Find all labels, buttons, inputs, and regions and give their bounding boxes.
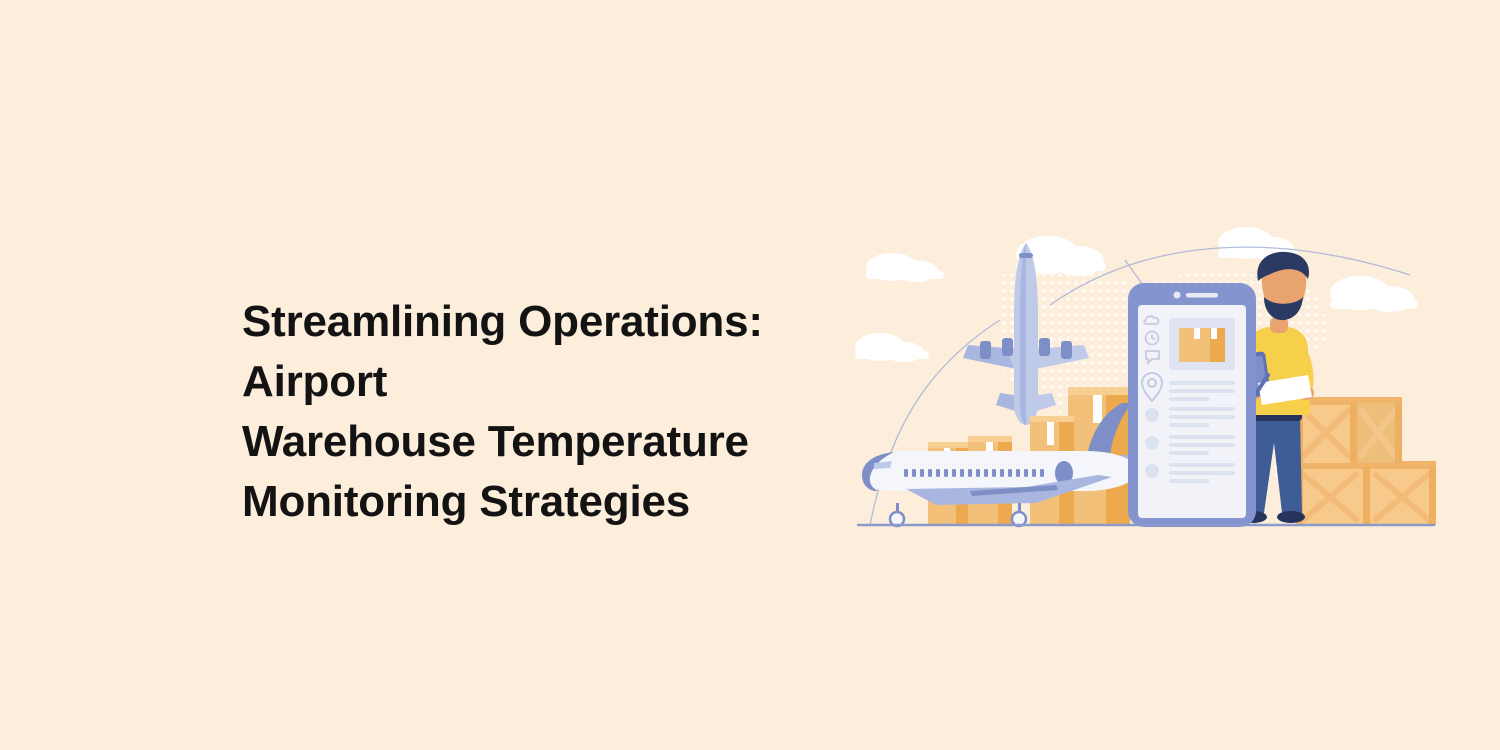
air-freight-illustration [850, 225, 1450, 545]
mobile-phone[interactable] [1128, 283, 1256, 527]
hero-banner: Streamlining Operations: Airport Warehou… [0, 0, 1500, 750]
cloud-icon [866, 253, 944, 282]
package-box-image [1169, 318, 1235, 370]
cloud-icon [1330, 276, 1418, 312]
wooden-crates [1296, 397, 1436, 525]
title-block: Streamlining Operations: Airport Warehou… [242, 292, 862, 532]
page-title: Streamlining Operations: Airport Warehou… [242, 292, 862, 532]
cloud-icon [855, 333, 929, 362]
